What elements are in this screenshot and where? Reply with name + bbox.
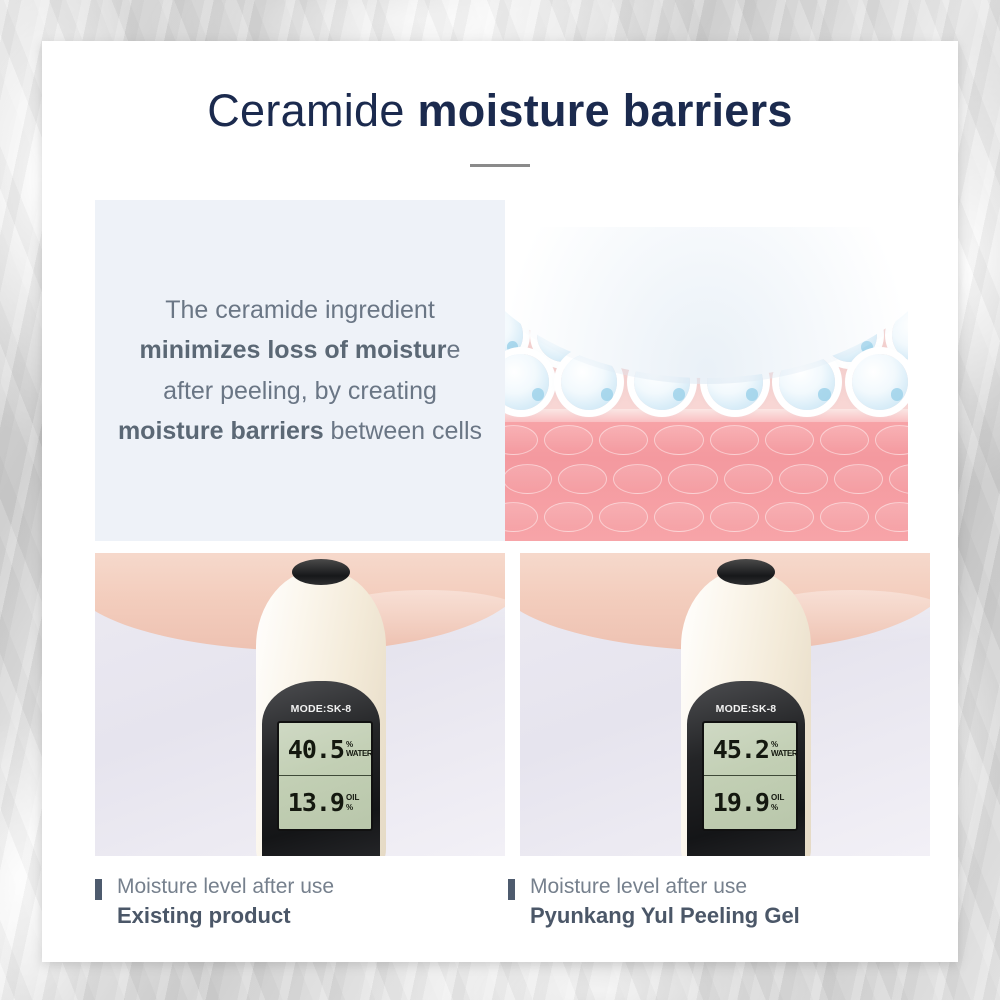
title-regular-part: Ceramide — [207, 85, 417, 136]
description-panel: The ceramide ingredient minimizes loss o… — [95, 200, 505, 541]
moisture-cell — [852, 354, 908, 410]
device-sensor-cap — [292, 559, 350, 585]
lcd-oil-unit-percent: % — [346, 803, 371, 812]
device-mode-label: MODE:SK-8 — [687, 703, 805, 715]
title-bold-part: moisture barriers — [418, 85, 793, 136]
description-line-3: after peeling, by creating — [118, 371, 482, 412]
infographic-card: Ceramide moisture barriers The ceramide … — [42, 41, 958, 962]
lcd-oil-value: 19.9 — [704, 790, 769, 815]
skin-analyzer-device: MODE:SK-8 45.2 % WATER 19.9 OIL % — [681, 569, 811, 856]
lcd-oil-unit-percent: % — [771, 803, 796, 812]
description-line-1: The ceramide ingredient — [118, 290, 482, 331]
lcd-water-unit-label: WATER — [346, 749, 371, 758]
lcd-oil-unit-label: OIL — [771, 793, 796, 802]
caption-subtitle: Moisture level after use — [117, 873, 334, 901]
caption-subtitle: Moisture level after use — [530, 873, 800, 901]
lcd-oil-value: 13.9 — [279, 790, 344, 815]
lcd-oil-units: OIL % — [344, 793, 371, 811]
caption-marker-bar — [95, 879, 102, 900]
lcd-oil-row: 19.9 OIL % — [704, 776, 796, 829]
caption-existing-product: Moisture level after use Existing produc… — [95, 873, 334, 930]
description-line-2-tail: e — [447, 336, 461, 364]
lcd-water-units: % WATER — [769, 740, 796, 758]
skin-cross-section-illustration — [505, 227, 908, 541]
dermis-cell-row — [505, 502, 908, 532]
lcd-water-row: 40.5 % WATER — [279, 723, 371, 776]
lcd-oil-units: OIL % — [769, 793, 796, 811]
lcd-water-unit-percent: % — [346, 740, 371, 749]
lcd-water-row: 45.2 % WATER — [704, 723, 796, 776]
device-mode-label: MODE:SK-8 — [262, 703, 380, 715]
photo-existing-product: MODE:SK-8 40.5 % WATER 13.9 OIL % — [95, 553, 505, 856]
caption-marker-bar — [508, 879, 515, 900]
device-lcd-screen: 40.5 % WATER 13.9 OIL % — [277, 721, 373, 831]
lcd-water-value: 40.5 — [279, 737, 344, 762]
caption-product-name: Existing product — [117, 901, 334, 930]
moisture-cell — [505, 354, 549, 410]
dermis-cell-row — [505, 464, 908, 494]
lcd-oil-row: 13.9 OIL % — [279, 776, 371, 829]
caption-pyunkang-yul-peeling-gel: Moisture level after use Pyunkang Yul Pe… — [508, 873, 800, 930]
lcd-water-value: 45.2 — [704, 737, 769, 762]
photo-pyunkang-yul-peeling-gel: MODE:SK-8 45.2 % WATER 19.9 OIL % — [520, 553, 930, 856]
device-face: MODE:SK-8 40.5 % WATER 13.9 OIL % — [262, 681, 380, 856]
page-title: Ceramide moisture barriers — [42, 85, 958, 137]
description-line-2-bold: minimizes loss of moistur — [140, 336, 447, 364]
device-lcd-screen: 45.2 % WATER 19.9 OIL % — [702, 721, 798, 831]
device-face: MODE:SK-8 45.2 % WATER 19.9 OIL % — [687, 681, 805, 856]
description-line-4-tail: between cells — [324, 417, 482, 445]
lcd-water-unit-percent: % — [771, 740, 796, 749]
lcd-oil-unit-label: OIL — [346, 793, 371, 802]
description-line-2: minimizes loss of moisture — [118, 330, 482, 371]
description-line-4-bold: moisture barriers — [118, 417, 324, 445]
device-sensor-cap — [717, 559, 775, 585]
caption-product-name: Pyunkang Yul Peeling Gel — [530, 901, 800, 930]
skin-analyzer-device: MODE:SK-8 40.5 % WATER 13.9 OIL % — [256, 569, 386, 856]
lcd-water-units: % WATER — [344, 740, 371, 758]
title-divider — [470, 164, 530, 167]
description-text: The ceramide ingredient minimizes loss o… — [118, 290, 482, 452]
description-line-4: moisture barriers between cells — [118, 411, 482, 452]
lcd-water-unit-label: WATER — [771, 749, 796, 758]
